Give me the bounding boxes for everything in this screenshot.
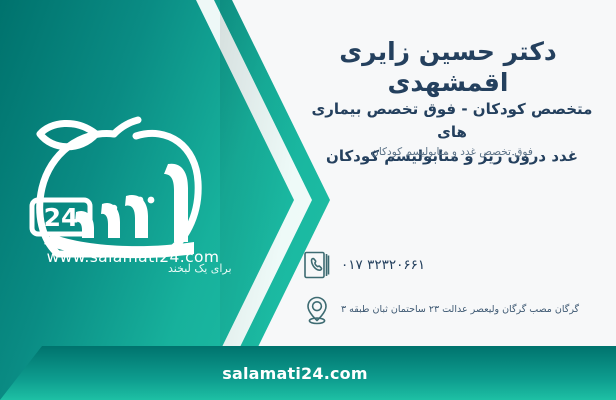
- phone-number: ۳۲۳۲۰۶۶۱ ۰۱۷: [341, 256, 425, 274]
- footer-website[interactable]: salamati24.com: [0, 346, 616, 400]
- contact-row-address[interactable]: گرگان مصب گرگان ولیعصر عدالت ۲۳ ساحتمان …: [302, 294, 602, 326]
- phone-book-icon: [302, 249, 332, 281]
- logo-website-url: www.salamati24.com: [18, 248, 248, 266]
- doctor-specialty-subtitle: فوق تخصص غدد و متابولیسم کودکان: [302, 145, 602, 160]
- contact-row-phone[interactable]: ۳۲۳۲۰۶۶۱ ۰۱۷: [302, 249, 602, 281]
- clinic-address: گرگان مصب گرگان ولیعصر عدالت ۲۳ ساحتمان …: [341, 304, 579, 317]
- logo-badge-24: 24: [44, 203, 79, 232]
- doctor-name: دکتر حسین زایری اقمشهدی: [298, 36, 598, 99]
- map-pin-icon: [302, 294, 332, 326]
- specialty-line-1: متخصص کودکان - فوق تخصص بیماری های: [302, 98, 602, 145]
- business-card: 24 برای یک لبخند www.salamati24.com دکتر…: [0, 0, 616, 400]
- card-content: دکتر حسین زایری اقمشهدی متخصص کودکان - ف…: [286, 0, 616, 400]
- footer-website-label: salamati24.com: [222, 364, 394, 383]
